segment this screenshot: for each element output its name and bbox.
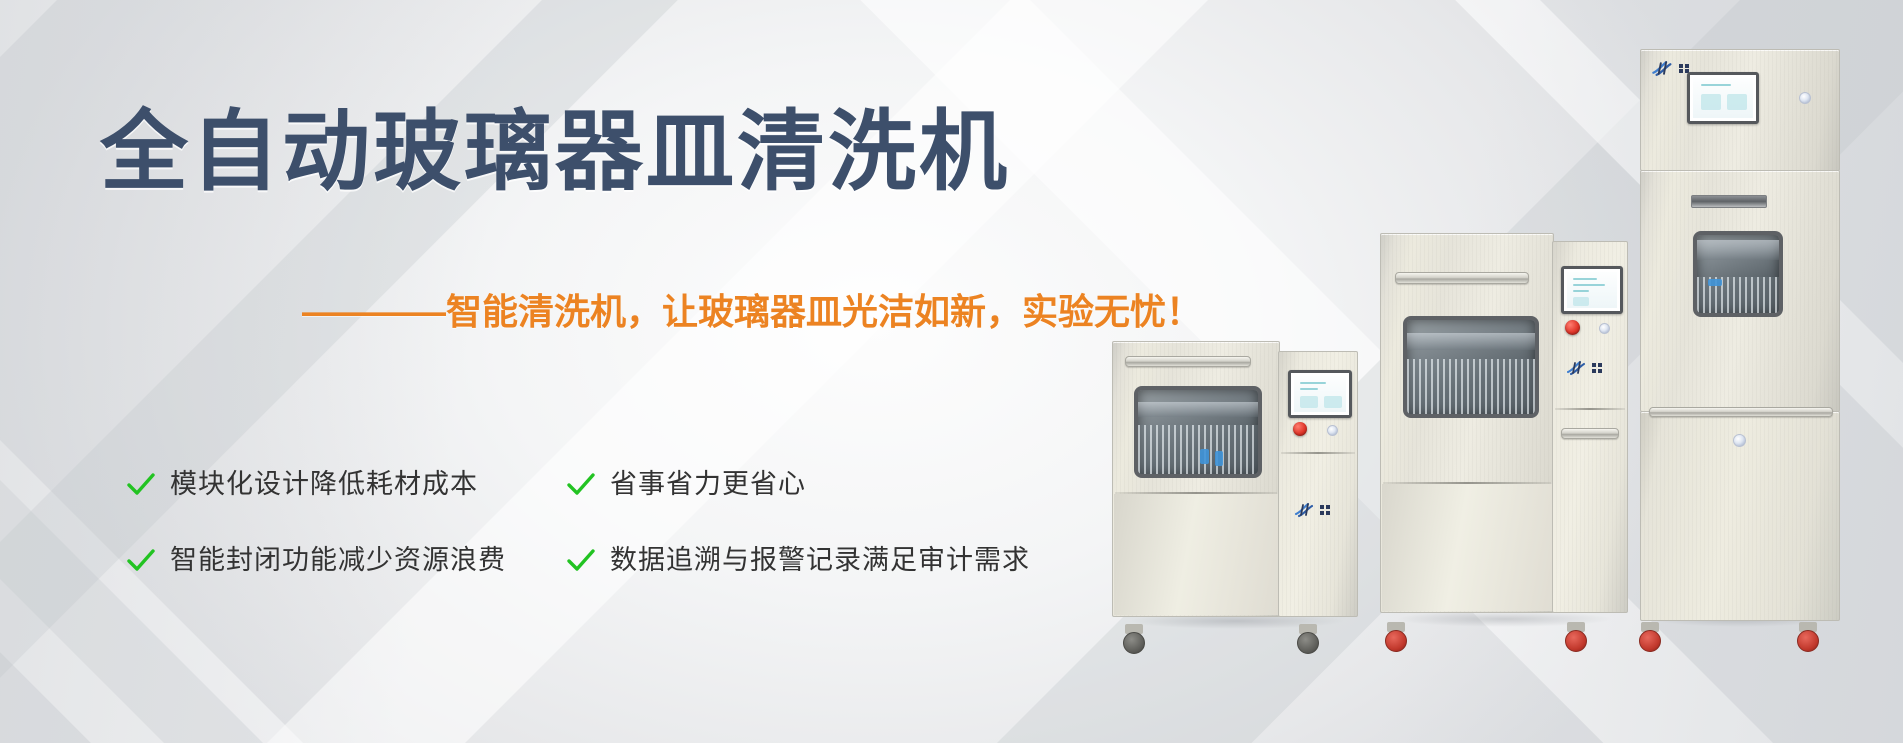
feature-list: 模块化设计降低耗材成本 省事省力更省心: [126, 470, 1076, 622]
viewing-window: [1403, 316, 1539, 418]
product-images: [1080, 0, 1903, 743]
viewing-window: [1693, 231, 1783, 317]
touchscreen-display[interactable]: [1561, 266, 1623, 314]
feature-row: 模块化设计降低耗材成本 省事省力更省心: [126, 470, 1076, 500]
check-icon: [126, 546, 156, 576]
feature-label: 模块化设计降低耗材成本: [170, 470, 478, 500]
banner-subtitle: ————智能清洗机，让玻璃器皿光洁如新，实验无忧！: [302, 294, 1202, 330]
product-image-center: [1380, 233, 1628, 621]
feature-item: 智能封闭功能减少资源浪费: [126, 546, 566, 576]
brand-logo: [1567, 360, 1602, 376]
emergency-stop-button[interactable]: [1293, 422, 1307, 436]
product-banner: 全自动玻璃器皿清洗机 ————智能清洗机，让玻璃器皿光洁如新，实验无忧！ 模块化…: [0, 0, 1903, 743]
product-image-left: [1112, 333, 1360, 623]
feature-row: 智能封闭功能减少资源浪费 数据追溯与报警记录满足审计需求: [126, 546, 1076, 576]
power-button[interactable]: [1799, 92, 1811, 104]
feature-label: 智能封闭功能减少资源浪费: [170, 546, 506, 576]
power-button[interactable]: [1327, 425, 1338, 436]
power-button[interactable]: [1599, 323, 1610, 334]
vent-slot: [1691, 195, 1767, 208]
brand-logo: [1652, 60, 1689, 77]
feature-item: 模块化设计降低耗材成本: [126, 470, 566, 500]
product-image-right: [1640, 49, 1840, 621]
touchscreen-display[interactable]: [1288, 370, 1352, 418]
feature-label: 省事省力更省心: [610, 470, 806, 500]
emergency-stop-button[interactable]: [1565, 320, 1580, 335]
banner-title: 全自动玻璃器皿清洗机: [100, 108, 1010, 196]
touchscreen-display[interactable]: [1687, 72, 1759, 124]
viewing-window: [1134, 386, 1262, 478]
feature-label: 数据追溯与报警记录满足审计需求: [610, 546, 1030, 576]
check-icon: [566, 470, 596, 500]
feature-item: 数据追溯与报警记录满足审计需求: [566, 546, 1066, 576]
check-icon: [126, 470, 156, 500]
check-icon: [566, 546, 596, 576]
door-lock-indicator: [1733, 434, 1746, 447]
brand-logo: [1295, 502, 1330, 518]
banner-copy: 全自动玻璃器皿清洗机 ————智能清洗机，让玻璃器皿光洁如新，实验无忧！ 模块化…: [0, 0, 1100, 743]
feature-item: 省事省力更省心: [566, 470, 1066, 500]
